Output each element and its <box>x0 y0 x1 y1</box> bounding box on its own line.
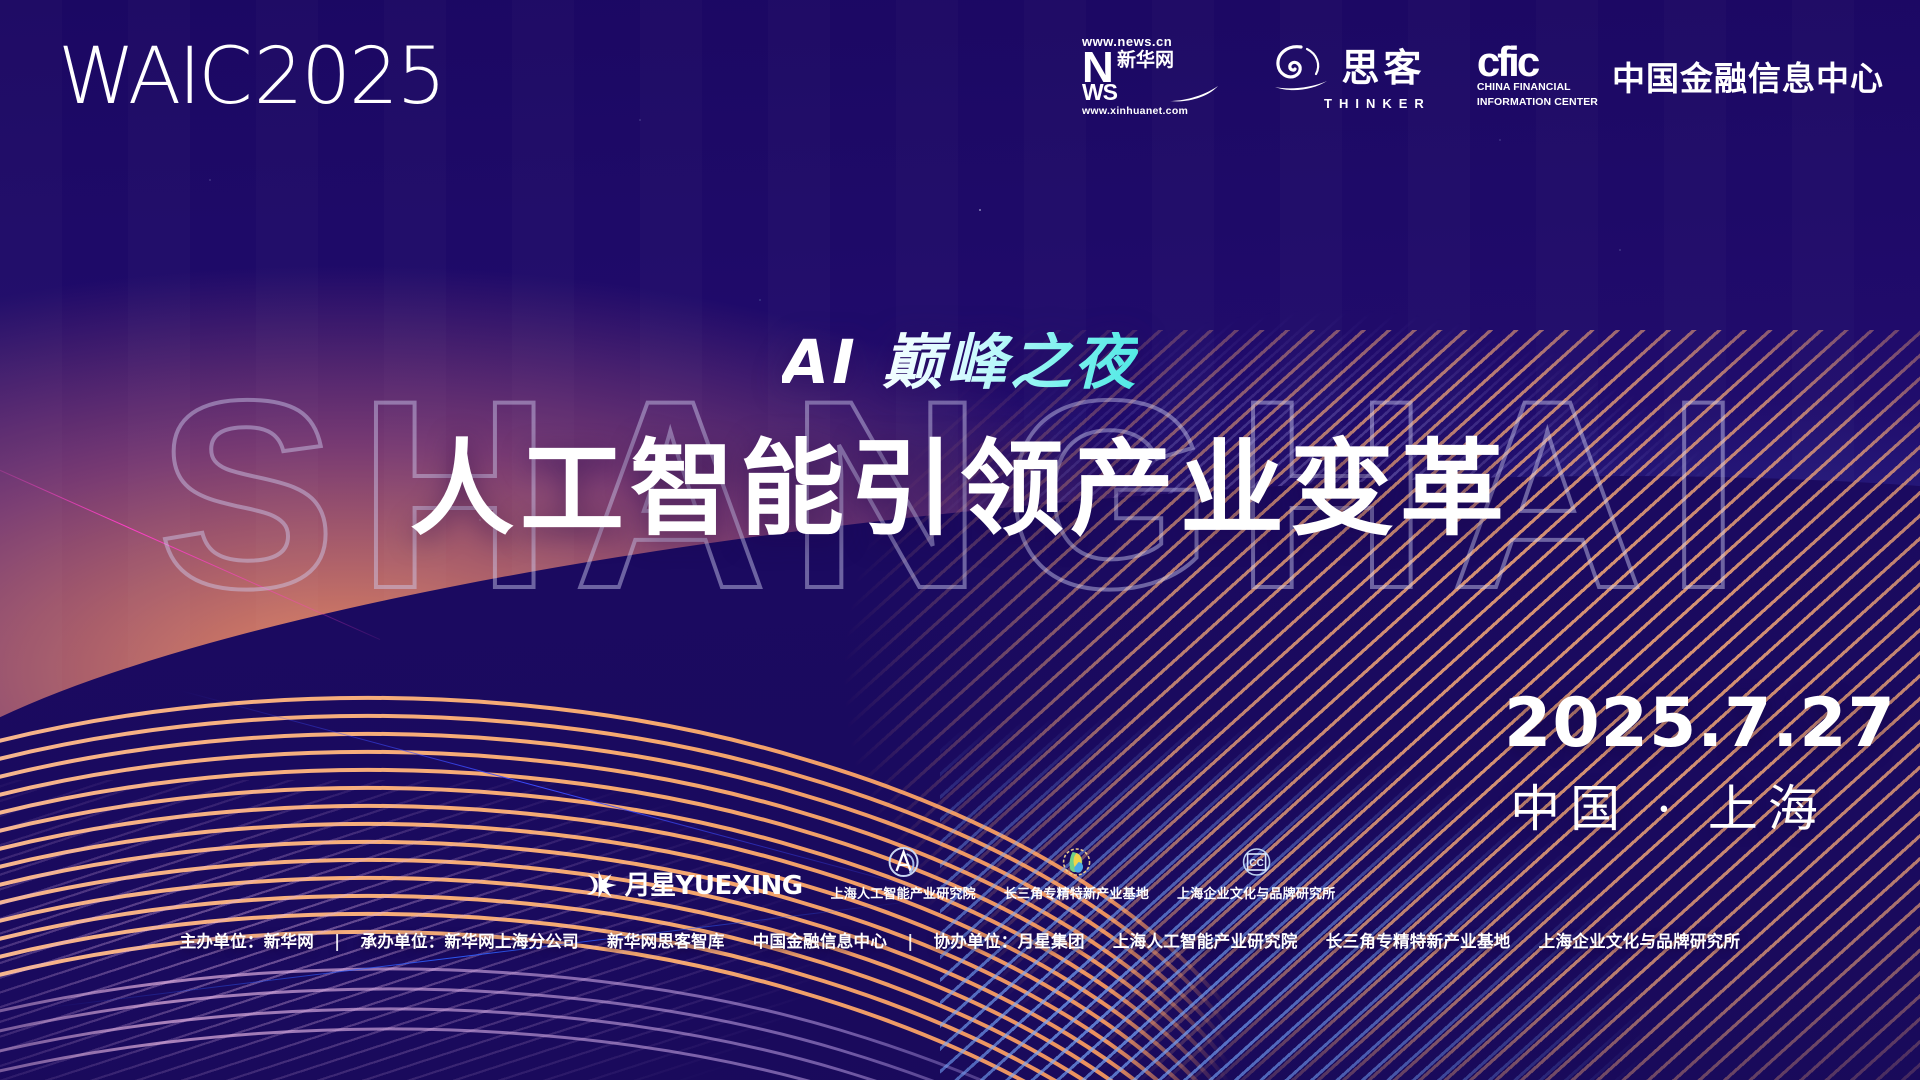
event-headline: 人工智能引领产业变革 <box>410 428 1510 551</box>
xinhua-swoosh-icon <box>1168 85 1220 103</box>
credits-coorganizer-1: 协办单位：月星集团 <box>934 932 1085 951</box>
yuexing-star-icon <box>585 869 619 899</box>
yrd-base-globe-icon <box>1059 846 1093 880</box>
thinker-logo[interactable]: 思客 THINKER <box>1266 43 1431 110</box>
credits-host: 主办单位：新华网 <box>180 932 314 951</box>
event-date-block: 2025.7.27 中国 · 上海 <box>1504 690 1834 834</box>
waic-logo-year: 2025 <box>254 38 445 116</box>
event-location: 中国 · 上海 <box>1504 784 1834 834</box>
xinhua-url-bottom: www.xinhuanet.com <box>1082 106 1188 117</box>
sponsor-name-secbri: 上海企业文化与品牌研究所 <box>1177 883 1335 902</box>
sponsor-name-saiii: 上海人工智能产业研究院 <box>831 883 976 902</box>
thinker-brush-spiral-icon <box>1271 43 1331 93</box>
cfic-en-line1: CHINA FINANCIAL <box>1477 81 1571 93</box>
sponsor-name-yrd-base: 长三角专精特新产业基地 <box>1004 883 1149 902</box>
cfic-logo[interactable]: cfic CHINA FINANCIAL INFORMATION CENTER … <box>1477 44 1884 108</box>
sponsor-logo-yuexing[interactable]: 月星YUEXING <box>585 865 803 902</box>
xinhua-cn-name: 新华网 <box>1117 50 1174 71</box>
credits-coorganizer-2: 上海人工智能产业研究院 <box>1113 932 1298 951</box>
sponsor-logo-secbri[interactable]: CC 上海企业文化与品牌研究所 <box>1177 846 1335 902</box>
credits-separator-1: | <box>320 932 354 951</box>
credits-coorganizer-3: 长三角专精特新产业基地 <box>1326 932 1511 951</box>
saiii-circle-a-icon <box>886 846 920 880</box>
sponsor-logo-yrd-base[interactable]: 长三角专精特新产业基地 <box>1004 846 1149 902</box>
credits-coorganizer-4: 上海企业文化与品牌研究所 <box>1539 932 1741 951</box>
credits-organizer-2: 新华网思客智库 <box>607 932 725 951</box>
xinhua-logo[interactable]: www.news.cn N WS 新华网 www.xinhuanet.com <box>1082 35 1220 116</box>
sponsor-name-yuexing: 月星YUEXING <box>625 865 803 902</box>
poster-canvas: SHANGHAI WAIC 2025 www.news.cn N WS 新华网 <box>0 0 1920 1080</box>
thinker-en-name: THINKER <box>1324 97 1431 110</box>
credits-organizer-1: 承办单位：新华网上海分公司 <box>361 932 579 951</box>
waic-logo: WAIC 2025 <box>58 38 444 116</box>
secbri-seal-icon: CC <box>1239 846 1273 880</box>
cfic-en-line2: INFORMATION CENTER <box>1477 96 1598 108</box>
header: WAIC 2025 www.news.cn N WS 新华网 www.xinhu… <box>0 0 1920 150</box>
waic-logo-text: WAIC <box>58 38 250 116</box>
sponsor-logo-row: 月星YUEXING 上海人工智能产业研究院 <box>585 846 1336 902</box>
event-subtitle: AI 巅峰之夜 <box>782 332 1138 393</box>
credits-separator-2: | <box>893 932 927 951</box>
xinhua-letters-ws: WS <box>1082 82 1117 103</box>
credits-organizer-3: 中国金融信息中心 <box>753 932 887 951</box>
cfic-wordmark: cfic <box>1477 44 1537 80</box>
sponsor-logo-saiii[interactable]: 上海人工智能产业研究院 <box>831 846 976 902</box>
header-partner-logos: www.news.cn N WS 新华网 www.xinhuanet.com <box>1082 34 1884 118</box>
svg-text:CC: CC <box>1249 858 1263 869</box>
event-date: 2025.7.27 <box>1504 690 1834 758</box>
credits-line: 主办单位：新华网 | 承办单位：新华网上海分公司 新华网思客智库 中国金融信息中… <box>180 928 1741 952</box>
thinker-cn-name: 思客 <box>1341 49 1425 87</box>
cfic-cn-name: 中国金融信息中心 <box>1612 52 1884 100</box>
